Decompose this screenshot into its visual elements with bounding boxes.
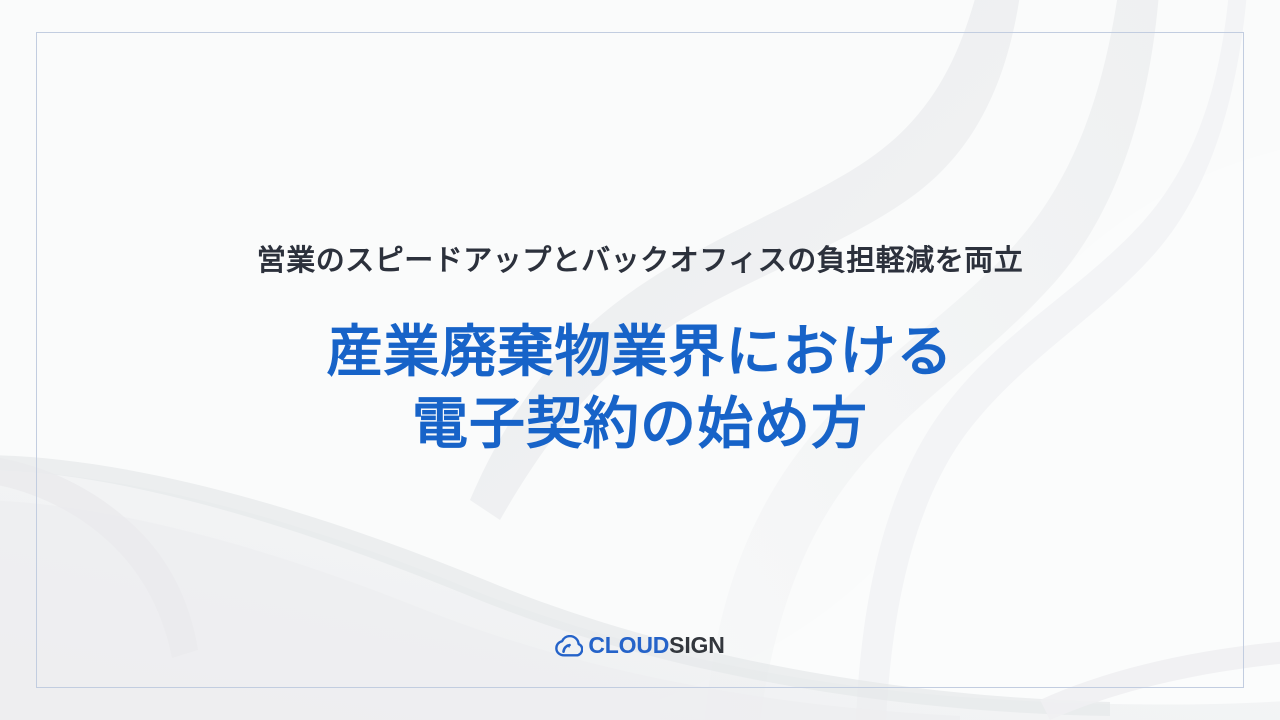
- cloudsign-cloud-icon: [555, 635, 583, 657]
- slide-headline-line-2: 電子契約の始め方: [0, 388, 1280, 460]
- slide-content: 営業のスピードアップとバックオフィスの負担軽減を両立 産業廃棄物業界における 電…: [0, 0, 1280, 720]
- slide-headline: 産業廃棄物業界における 電子契約の始め方: [0, 316, 1280, 459]
- cloudsign-logo: CLOUDSIGN: [0, 634, 1280, 657]
- logo-word-sign: SIGN: [669, 634, 724, 657]
- cloudsign-wordmark: CLOUDSIGN: [588, 634, 724, 657]
- logo-word-cloud: CLOUD: [588, 634, 669, 657]
- slide-headline-line-1: 産業廃棄物業界における: [0, 316, 1280, 388]
- slide-eyebrow-text: 営業のスピードアップとバックオフィスの負担軽減を両立: [0, 243, 1280, 279]
- title-slide: 営業のスピードアップとバックオフィスの負担軽減を両立 産業廃棄物業界における 電…: [0, 0, 1280, 720]
